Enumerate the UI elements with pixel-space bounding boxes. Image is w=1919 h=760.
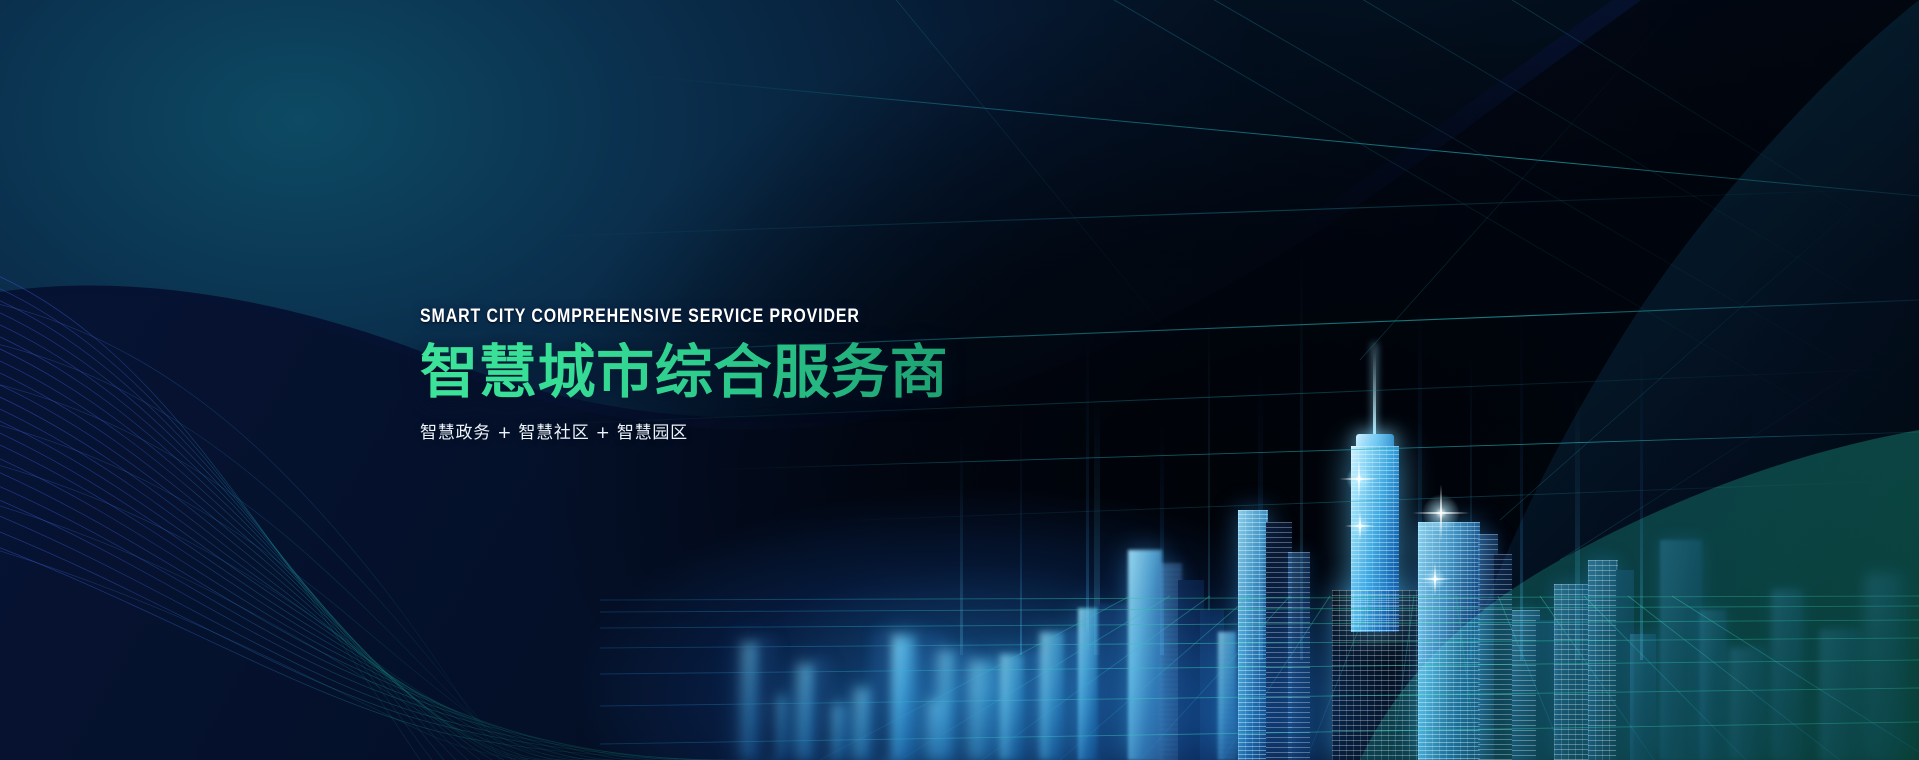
hero-text-block: SMART CITY COMPREHENSIVE SERVICE PROVIDE…	[420, 306, 1060, 443]
eyebrow-text: SMART CITY COMPREHENSIVE SERVICE PROVIDE…	[420, 306, 958, 328]
hero-banner: SMART CITY COMPREHENSIVE SERVICE PROVIDE…	[0, 0, 1919, 760]
page-title: 智慧城市综合服务商	[420, 342, 1060, 403]
subtitle-text: 智慧政务 + 智慧社区 + 智慧园区	[420, 418, 1060, 443]
